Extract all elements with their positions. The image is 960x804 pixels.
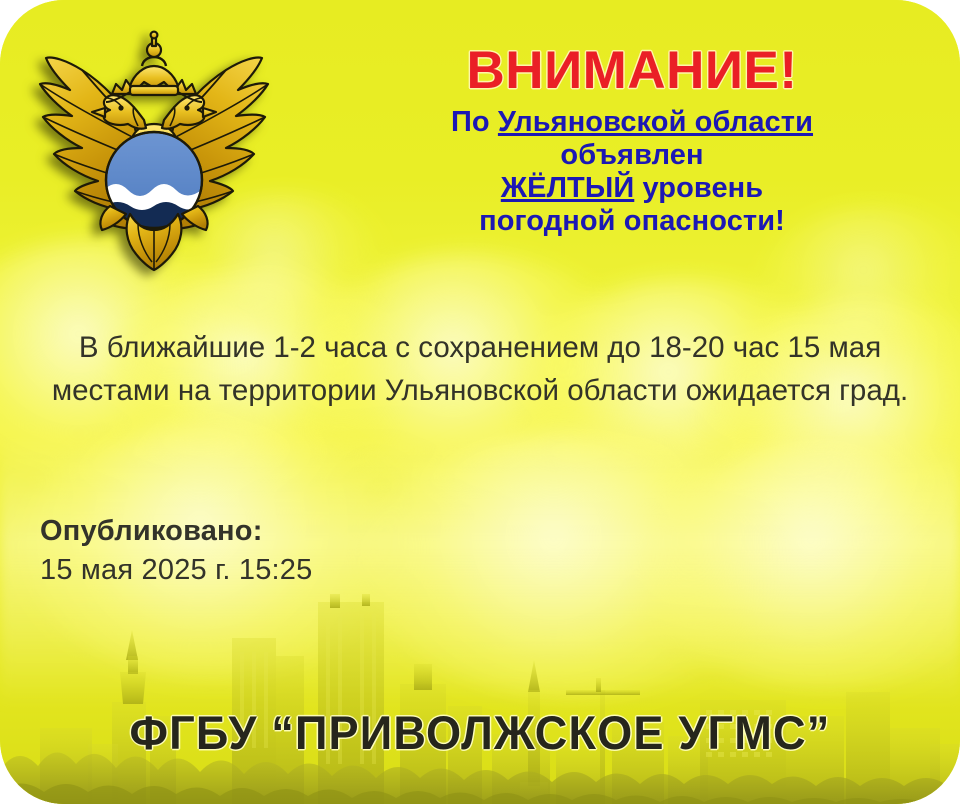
published-block: Опубликовано: 15 мая 2025 г. 15:25 <box>40 512 560 590</box>
danger-level-name: ЖЁЛТЫЙ <box>501 172 635 204</box>
cityscape-silhouette <box>0 594 960 804</box>
region-name: Ульяновской области <box>498 106 813 138</box>
organization-name: ФГБУ “ПРИВОЛЖСКОЕ УГМС” <box>19 705 941 760</box>
heading-line-declared: объявлен <box>368 139 896 172</box>
heading-line-danger: погодной опасности! <box>368 205 896 238</box>
weather-warning-card: ВНИМАНИЕ! По Ульяновской области объявле… <box>0 0 960 804</box>
published-label: Опубликовано: <box>40 512 560 551</box>
warning-body-text: В ближайшие 1-2 часа с сохранением до 18… <box>44 326 916 413</box>
published-datetime: 15 мая 2025 г. 15:25 <box>40 551 560 590</box>
warning-header: ВНИМАНИЕ! По Ульяновской области объявле… <box>368 44 896 238</box>
roshydromet-eagle-emblem-icon <box>26 28 282 280</box>
heading-line-region: По Ульяновской области <box>368 106 896 139</box>
heading-prefix: По <box>451 106 498 138</box>
attention-title: ВНИМАНИЕ! <box>368 44 896 98</box>
heading-line-level: ЖЁЛТЫЙ уровень <box>368 172 896 205</box>
level-word: уровень <box>634 172 763 204</box>
